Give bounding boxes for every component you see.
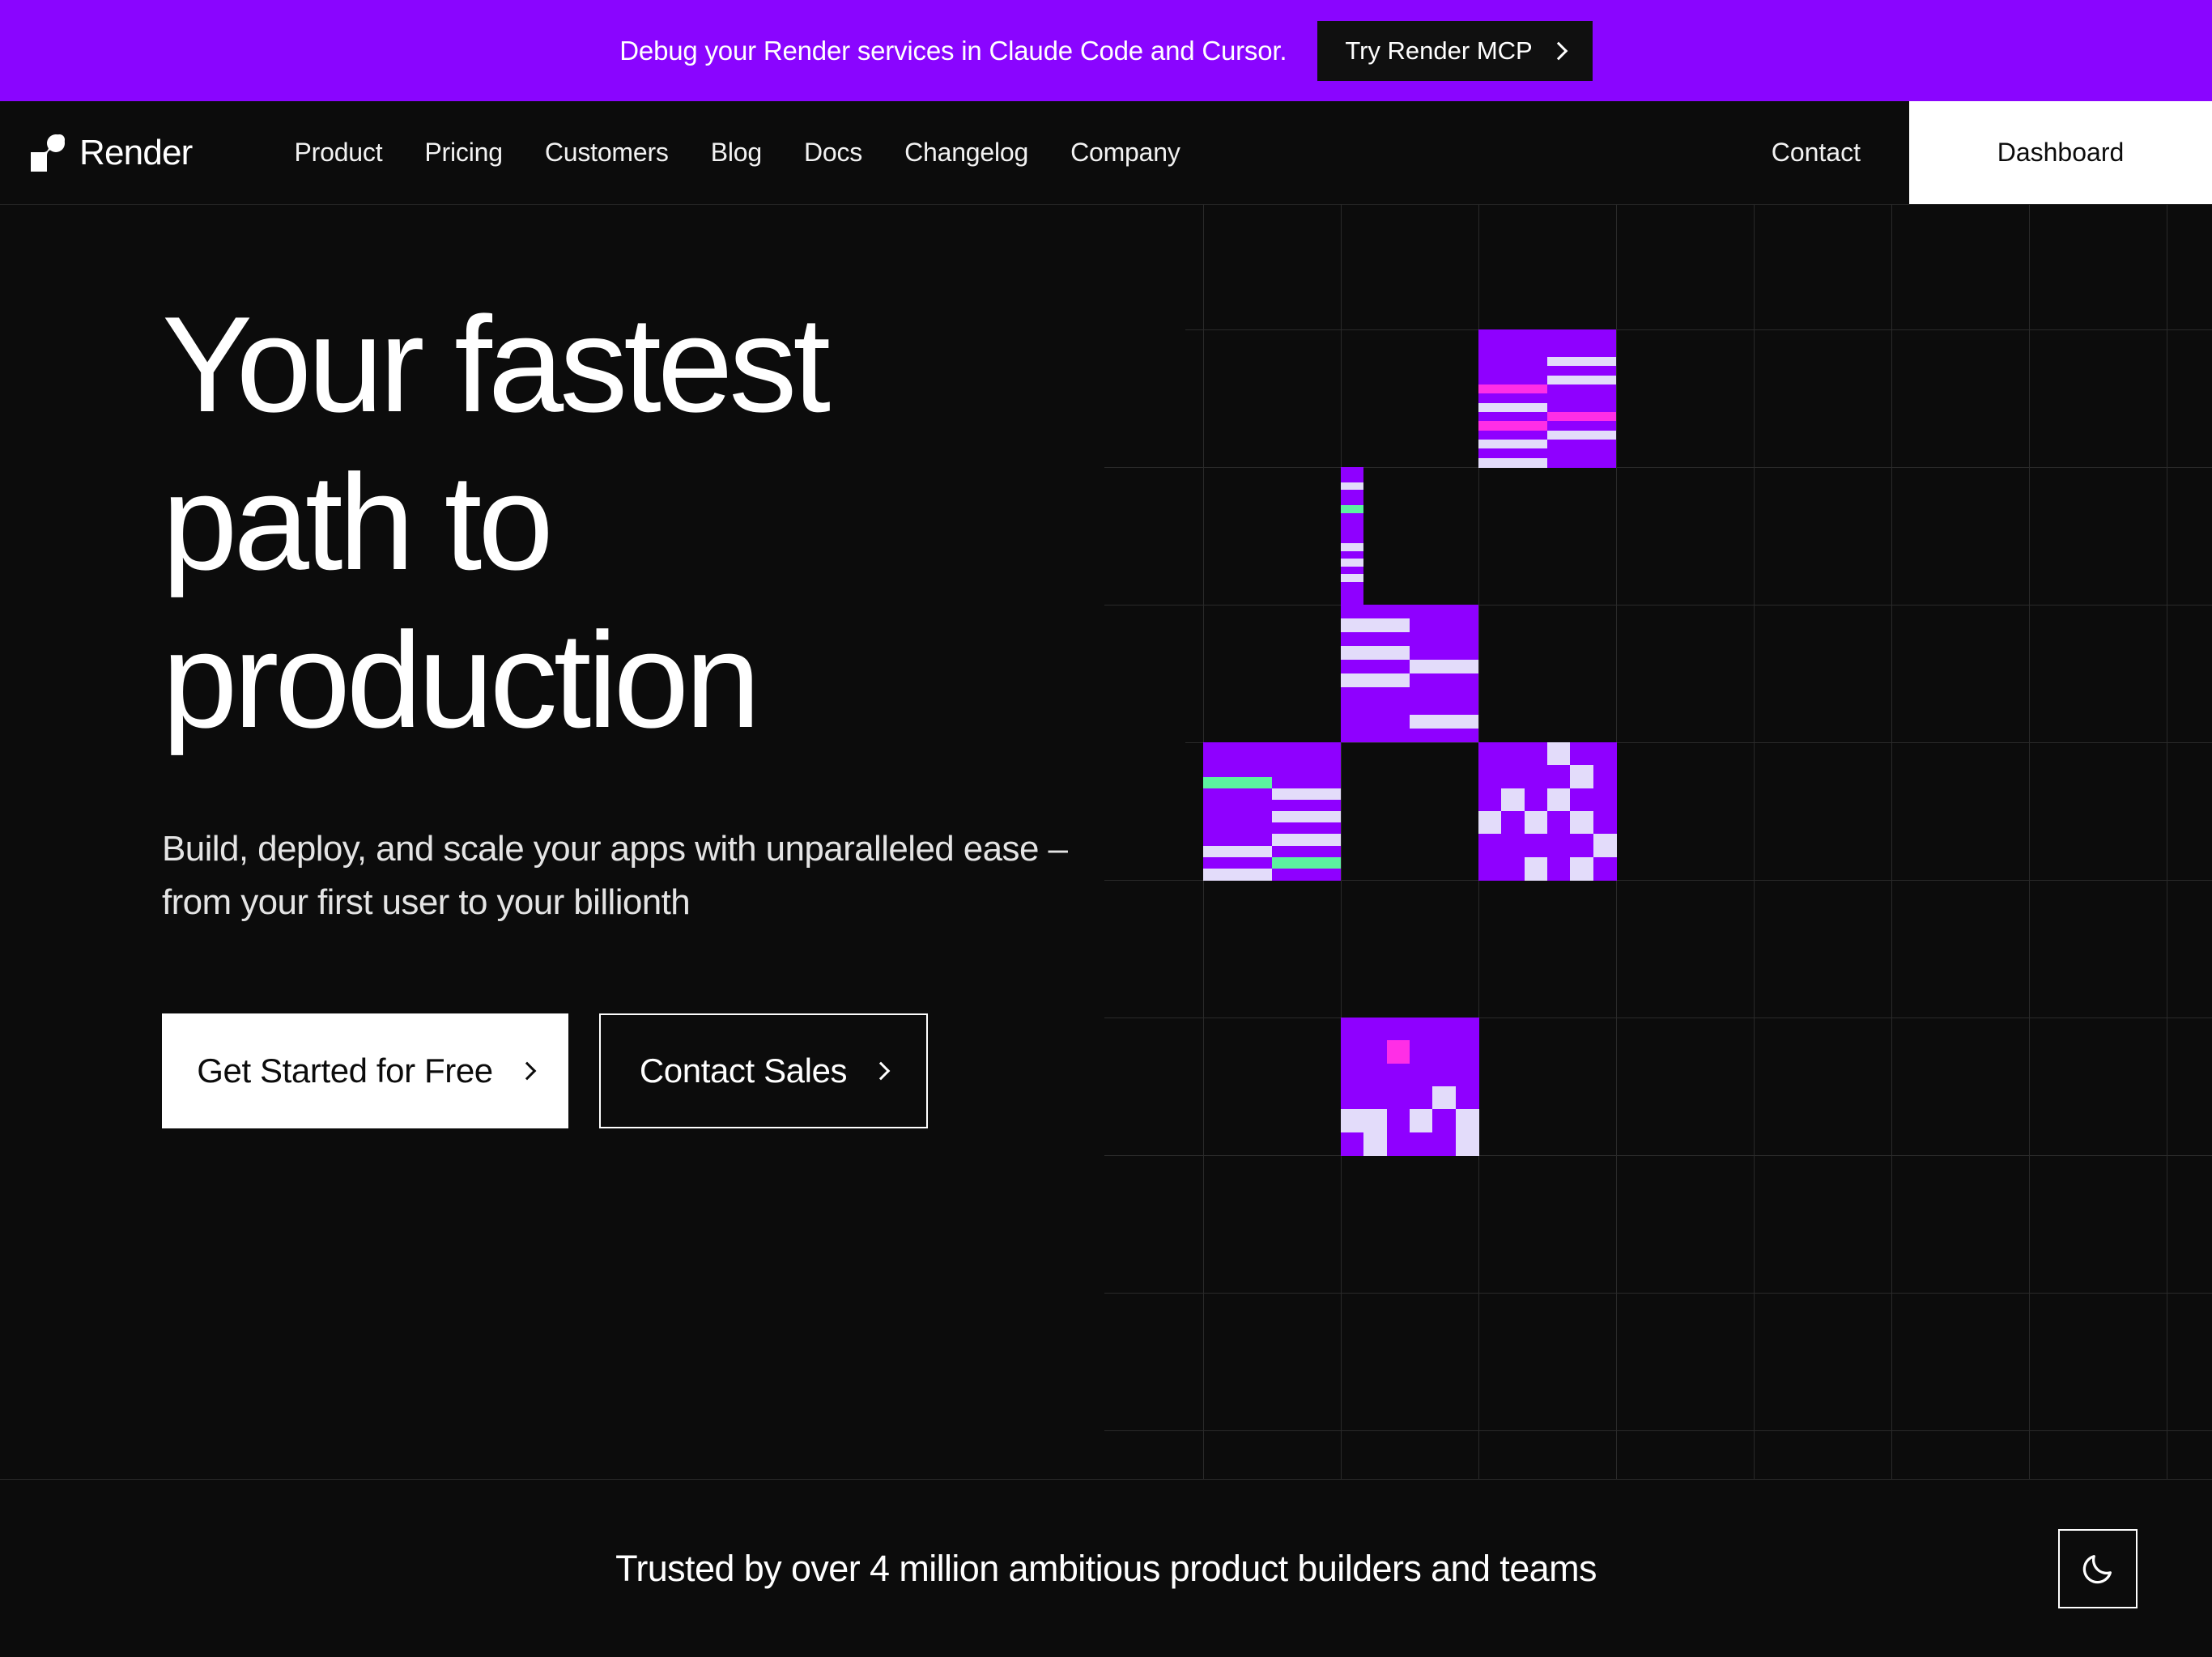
art-pixel: [1341, 1086, 1364, 1110]
art-pixel: [1501, 834, 1525, 857]
art-pixel: [1570, 765, 1593, 788]
art-pixel: [1525, 742, 1548, 766]
trust-bar-text: Trusted by over 4 million ambitious prod…: [615, 1548, 1597, 1590]
art-pixel: [1478, 412, 1547, 422]
art-pixel: [1432, 1040, 1456, 1064]
nav-links: Product Pricing Customers Blog Docs Chan…: [274, 138, 1202, 168]
art-pixel: [1593, 765, 1617, 788]
art-pixel: [1203, 754, 1272, 766]
art-pixel: [1456, 1109, 1479, 1132]
art-pixel: [1410, 646, 1478, 660]
render-logo-icon: [31, 134, 66, 172]
nav-link-docs[interactable]: Docs: [783, 138, 883, 168]
art-pixel: [1203, 834, 1272, 846]
hero-cta-row: Get Started for Free Contact Sales: [162, 1013, 1067, 1128]
nav-link-customers[interactable]: Customers: [524, 138, 690, 168]
art-pixel: [1547, 385, 1616, 394]
art-pixel: [1203, 857, 1272, 869]
art-pixel: [1478, 366, 1547, 376]
art-pixel: [1478, 742, 1502, 766]
art-pixel: [1432, 1064, 1456, 1087]
art-pixel: [1456, 1132, 1479, 1156]
logo-text: Render: [79, 133, 193, 173]
art-pixel: [1341, 701, 1410, 715]
get-started-label: Get Started for Free: [197, 1052, 493, 1090]
art-pixel: [1525, 811, 1548, 835]
art-pixel: [1432, 1132, 1456, 1156]
art-pixel: [1432, 1109, 1456, 1132]
art-pixel: [1341, 618, 1410, 632]
art-pixel: [1272, 742, 1341, 754]
art-pixel: [1547, 393, 1616, 403]
art-pixel: [1547, 403, 1616, 413]
art-pixel: [1272, 754, 1341, 766]
art-pixel: [1456, 1040, 1479, 1064]
art-pixel: [1547, 412, 1616, 422]
art-pixel: [1570, 857, 1593, 881]
art-pixel: [1547, 448, 1616, 458]
art-pixel: [1570, 834, 1593, 857]
art-pixel: [1410, 687, 1478, 701]
art-pixel: [1501, 742, 1525, 766]
art-pixel: [1547, 348, 1616, 358]
art-pixel: [1547, 357, 1616, 367]
art-pixel: [1363, 1132, 1387, 1156]
art-pixel: [1593, 788, 1617, 812]
art-pixel: [1478, 376, 1547, 385]
art-pixel: [1547, 458, 1616, 468]
art-pixel: [1363, 1040, 1387, 1064]
art-pixel: [1478, 431, 1547, 440]
art-pixel: [1570, 788, 1593, 812]
art-pixel: [1410, 1018, 1433, 1041]
art-pixel: [1478, 393, 1547, 403]
block-top-right: [1478, 329, 1616, 467]
art-pixel: [1272, 765, 1341, 777]
art-pixel: [1272, 846, 1341, 858]
theme-toggle-button[interactable]: [2058, 1529, 2138, 1608]
art-pixel: [1478, 421, 1547, 431]
chevron-right-icon: [1549, 41, 1568, 60]
art-pixel: [1341, 673, 1410, 687]
art-pixel: [1547, 788, 1571, 812]
contact-sales-label: Contact Sales: [640, 1052, 847, 1090]
grid-line-horizontal: [1104, 1293, 2212, 1294]
art-pixel: [1410, 673, 1478, 687]
nav-link-blog[interactable]: Blog: [690, 138, 783, 168]
art-pixel: [1410, 701, 1478, 715]
art-pixel: [1547, 329, 1616, 339]
art-pixel: [1478, 458, 1547, 468]
art-pixel: [1478, 357, 1547, 367]
art-pixel: [1593, 834, 1617, 857]
art-pixel: [1478, 385, 1547, 394]
grid-line-vertical: [1341, 205, 1342, 1479]
nav-link-product[interactable]: Product: [274, 138, 404, 168]
art-pixel: [1203, 822, 1272, 835]
art-pixel: [1547, 431, 1616, 440]
art-pixel: [1363, 1109, 1387, 1132]
art-pixel: [1410, 632, 1478, 646]
nav-right-group: Contact Dashboard: [1723, 101, 2212, 204]
art-pixel: [1341, 646, 1410, 660]
art-pixel: [1432, 1086, 1456, 1110]
art-pixel: [1501, 765, 1525, 788]
art-pixel: [1410, 1086, 1433, 1110]
art-pixel: [1203, 811, 1272, 823]
art-pixel: [1501, 811, 1525, 835]
art-pixel: [1501, 788, 1525, 812]
art-pixel: [1410, 715, 1478, 729]
block-checkerboard: [1478, 742, 1616, 880]
art-pixel: [1570, 811, 1593, 835]
art-pixel: [1341, 729, 1410, 742]
nav-link-company[interactable]: Company: [1049, 138, 1202, 168]
try-render-mcp-button[interactable]: Try Render MCP: [1317, 21, 1592, 81]
art-pixel: [1387, 1109, 1410, 1132]
art-pixel: [1272, 822, 1341, 835]
art-pixel: [1272, 777, 1341, 789]
art-pixel: [1363, 1064, 1387, 1087]
chevron-right-icon: [872, 1061, 891, 1080]
art-pixel: [1478, 403, 1547, 413]
try-render-mcp-label: Try Render MCP: [1345, 36, 1532, 66]
art-pixel: [1478, 348, 1547, 358]
art-pixel: [1272, 834, 1341, 846]
grid-line-vertical: [2167, 205, 2167, 1479]
art-pixel: [1547, 338, 1616, 348]
dashboard-button[interactable]: Dashboard: [1909, 101, 2212, 204]
art-pixel: [1478, 329, 1547, 339]
art-pixel: [1547, 421, 1616, 431]
block-middle: [1341, 605, 1478, 742]
hero-section: Your fastest path to production Build, d…: [0, 205, 2212, 1479]
art-pixel: [1456, 1086, 1479, 1110]
art-pixel: [1203, 869, 1272, 881]
contact-sales-button[interactable]: Contact Sales: [599, 1013, 928, 1128]
art-pixel: [1341, 1132, 1364, 1156]
art-pixel: [1410, 605, 1478, 618]
art-pixel: [1341, 1109, 1364, 1132]
main-navigation: Render Product Pricing Customers Blog Do…: [0, 101, 2212, 205]
art-pixel: [1478, 448, 1547, 458]
art-pixel: [1272, 800, 1341, 812]
art-pixel: [1410, 1132, 1433, 1156]
art-pixel: [1203, 788, 1272, 801]
art-pixel: [1478, 788, 1502, 812]
art-pixel: [1387, 1018, 1410, 1041]
art-pixel: [1547, 857, 1571, 881]
art-pixel: [1387, 1086, 1410, 1110]
grid-line-horizontal: [1104, 467, 2212, 468]
art-pixel: [1341, 1064, 1364, 1087]
page-title: Your fastest path to production: [162, 286, 1067, 759]
art-pixel: [1525, 765, 1548, 788]
art-pixel: [1547, 376, 1616, 385]
art-pixel: [1593, 811, 1617, 835]
nav-link-contact[interactable]: Contact: [1723, 101, 1909, 204]
art-pixel: [1547, 440, 1616, 449]
hero-content: Your fastest path to production Build, d…: [162, 286, 1067, 1128]
chevron-right-icon: [517, 1061, 536, 1080]
pixel-art-decoration: [1104, 205, 2212, 1479]
art-pixel: [1341, 660, 1410, 673]
block-lower-left: [1203, 742, 1341, 880]
art-pixel: [1478, 857, 1502, 881]
art-pixel: [1410, 1040, 1433, 1064]
block-sliver: [1341, 467, 1363, 605]
block-bottom: [1341, 1018, 1478, 1155]
art-pixel: [1341, 632, 1410, 646]
grid-line-horizontal: [1104, 605, 2212, 605]
art-pixel: [1387, 1132, 1410, 1156]
grid-line-vertical: [1891, 205, 1892, 1479]
art-pixel: [1410, 1109, 1433, 1132]
art-pixel: [1203, 800, 1272, 812]
hero-subtitle: Build, deploy, and scale your apps with …: [162, 822, 1067, 929]
moon-icon: [2079, 1550, 2116, 1587]
nav-link-pricing[interactable]: Pricing: [403, 138, 523, 168]
art-pixel: [1456, 1064, 1479, 1087]
art-pixel: [1525, 788, 1548, 812]
art-pixel: [1410, 1064, 1433, 1087]
art-pixel: [1272, 869, 1341, 881]
art-pixel: [1525, 834, 1548, 857]
art-pixel: [1456, 1018, 1479, 1041]
art-pixel: [1203, 846, 1272, 858]
art-pixel: [1547, 742, 1571, 766]
art-pixel: [1203, 765, 1272, 777]
art-pixel: [1410, 618, 1478, 632]
art-pixel: [1203, 777, 1272, 789]
art-pixel: [1478, 811, 1502, 835]
art-pixel: [1410, 660, 1478, 673]
art-pixel: [1593, 742, 1617, 766]
art-pixel: [1341, 715, 1410, 729]
trust-bar: Trusted by over 4 million ambitious prod…: [0, 1479, 2212, 1657]
nav-left-group: Render Product Pricing Customers Blog Do…: [0, 101, 1202, 204]
art-pixel: [1547, 366, 1616, 376]
art-pixel: [1478, 834, 1502, 857]
art-pixel: [1547, 811, 1571, 835]
grid-line-vertical: [1754, 205, 1755, 1479]
nav-link-changelog[interactable]: Changelog: [883, 138, 1049, 168]
art-pixel: [1387, 1040, 1410, 1064]
art-pixel: [1593, 857, 1617, 881]
art-pixel: [1272, 788, 1341, 801]
art-pixel: [1547, 765, 1571, 788]
art-pixel: [1363, 1086, 1387, 1110]
art-pixel: [1363, 1018, 1387, 1041]
get-started-button[interactable]: Get Started for Free: [162, 1013, 568, 1128]
art-pixel: [1501, 857, 1525, 881]
announcement-banner: Debug your Render services in Claude Cod…: [0, 0, 2212, 101]
art-pixel: [1432, 1018, 1456, 1041]
art-pixel: [1341, 1018, 1364, 1041]
grid-line-vertical: [2029, 205, 2030, 1479]
art-pixel: [1547, 834, 1571, 857]
grid-line-horizontal: [1104, 1430, 2212, 1431]
grid-line-horizontal: [1185, 329, 2212, 330]
render-logo[interactable]: Render: [31, 133, 193, 173]
art-pixel: [1341, 687, 1410, 701]
grid-line-horizontal: [1104, 1155, 2212, 1156]
art-pixel: [1570, 742, 1593, 766]
art-pixel: [1272, 811, 1341, 823]
art-pixel: [1387, 1064, 1410, 1087]
art-pixel: [1478, 440, 1547, 449]
art-pixel: [1478, 765, 1502, 788]
art-pixel: [1410, 729, 1478, 742]
art-pixel: [1478, 338, 1547, 348]
art-pixel: [1525, 857, 1548, 881]
art-pixel: [1341, 605, 1410, 618]
announcement-text: Debug your Render services in Claude Cod…: [619, 36, 1287, 66]
art-pixel: [1272, 857, 1341, 869]
art-pixel: [1203, 742, 1272, 754]
grid-line-horizontal: [1104, 1018, 2212, 1018]
art-pixel: [1341, 1040, 1364, 1064]
